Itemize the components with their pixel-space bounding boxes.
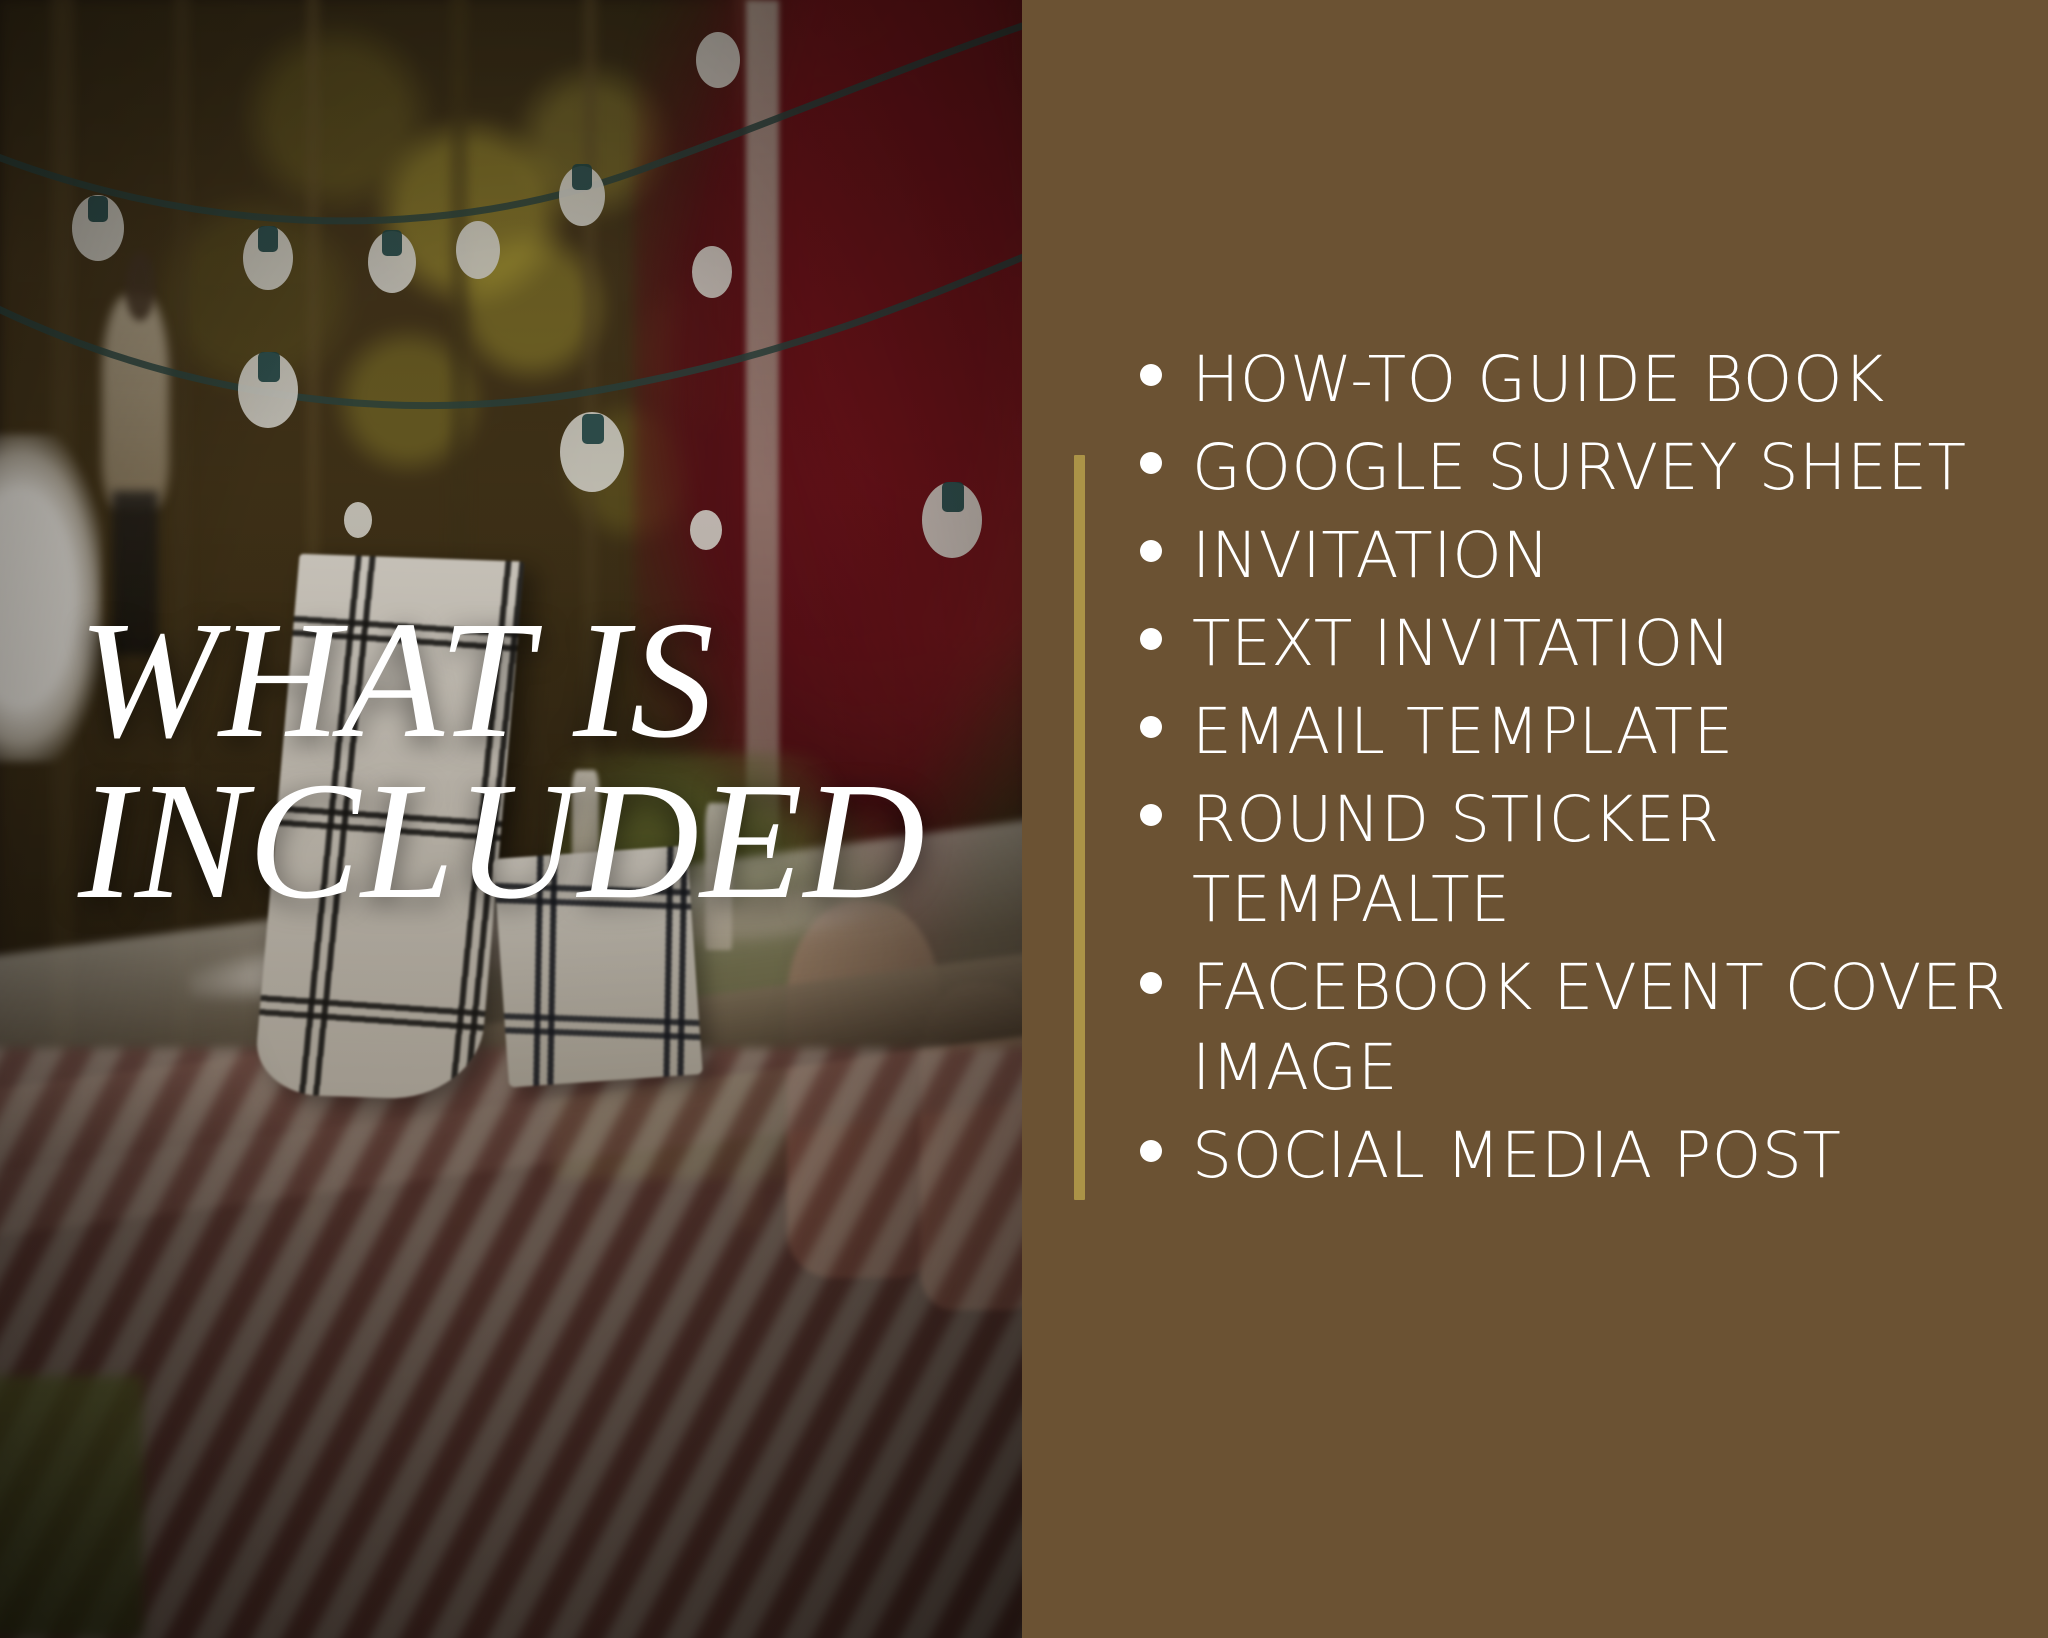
page-title: WHAT IS INCLUDED bbox=[78, 600, 978, 923]
list-item-label: GOOGLE SURVEY SHEET bbox=[1192, 428, 2008, 508]
gold-accent-bar bbox=[1074, 455, 1085, 1200]
list-item-label: TEXT INVITATION bbox=[1192, 604, 2008, 684]
list-item: HOW-TO GUIDE BOOK bbox=[1140, 340, 2008, 420]
list-item: INVITATION bbox=[1140, 516, 2008, 596]
bullet-icon bbox=[1140, 540, 1162, 562]
list-item-label: FACEBOOK EVENT COVER IMAGE bbox=[1192, 948, 2008, 1108]
bullet-icon bbox=[1140, 628, 1162, 650]
list-item: FACEBOOK EVENT COVER IMAGE bbox=[1140, 948, 2008, 1108]
list-item: ROUND STICKER TEMPALTE bbox=[1140, 780, 2008, 940]
bullet-icon bbox=[1140, 972, 1162, 994]
list-item-label: HOW-TO GUIDE BOOK bbox=[1192, 340, 2008, 420]
included-list-panel: HOW-TO GUIDE BOOK GOOGLE SURVEY SHEET IN… bbox=[1022, 0, 2048, 1638]
included-items-list: HOW-TO GUIDE BOOK GOOGLE SURVEY SHEET IN… bbox=[1140, 340, 2008, 1204]
bullet-icon bbox=[1140, 716, 1162, 738]
bullet-icon bbox=[1140, 452, 1162, 474]
title-line-2: INCLUDED bbox=[78, 761, 978, 922]
list-item-label: SOCIAL MEDIA POST bbox=[1192, 1116, 2008, 1196]
list-item: EMAIL TEMPLATE bbox=[1140, 692, 2008, 772]
bullet-icon bbox=[1140, 364, 1162, 386]
list-item: SOCIAL MEDIA POST bbox=[1140, 1116, 2008, 1196]
list-item-label: INVITATION bbox=[1192, 516, 2008, 596]
bullet-icon bbox=[1140, 1140, 1162, 1162]
list-item-label: EMAIL TEMPLATE bbox=[1192, 692, 2008, 772]
list-item-label: ROUND STICKER TEMPALTE bbox=[1192, 780, 2008, 940]
bullet-icon bbox=[1140, 804, 1162, 826]
list-item: GOOGLE SURVEY SHEET bbox=[1140, 428, 2008, 508]
list-item: TEXT INVITATION bbox=[1140, 604, 2008, 684]
title-line-1: WHAT IS bbox=[78, 587, 715, 773]
slide-what-is-included: WHAT IS INCLUDED HOW-TO GUIDE BOOK GOOGL… bbox=[0, 0, 2048, 1638]
photo-panel: WHAT IS INCLUDED bbox=[0, 0, 1022, 1638]
